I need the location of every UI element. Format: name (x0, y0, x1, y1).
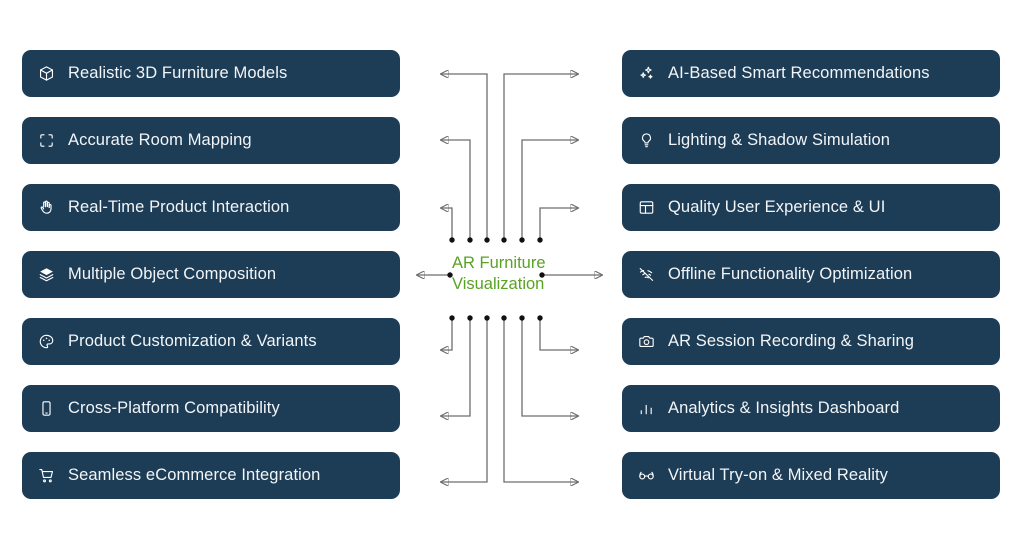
feature-box-analytics-insights-dashboard[interactable]: Analytics & Insights Dashboard (622, 385, 1000, 432)
feature-diagram: Realistic 3D Furniture Models Accurate R… (0, 0, 1024, 550)
feature-label: Real-Time Product Interaction (68, 199, 289, 216)
connector-right-5 (540, 318, 578, 350)
connector-right-3 (540, 208, 578, 240)
feature-label: Virtual Try-on & Mixed Reality (668, 467, 888, 484)
feature-label: Cross-Platform Compatibility (68, 400, 280, 417)
bar-chart-icon (636, 399, 656, 419)
feature-box-seamless-ecommerce-integration[interactable]: Seamless eCommerce Integration (22, 452, 400, 499)
connector-left-2 (441, 140, 470, 240)
connector-right-1 (504, 74, 578, 240)
feature-label: Quality User Experience & UI (668, 199, 885, 216)
palette-icon (36, 332, 56, 352)
hub-dot (484, 237, 489, 242)
right-feature-column: AI-Based Smart Recommendations Lighting … (622, 50, 1000, 499)
hub-dot (449, 237, 454, 242)
feature-box-offline-functionality-optimization[interactable]: Offline Functionality Optimization (622, 251, 1000, 298)
feature-label: Multiple Object Composition (68, 266, 276, 283)
hub-dot (519, 315, 524, 320)
connector-right-2 (522, 140, 578, 240)
hub-dot (537, 315, 542, 320)
sparkles-icon (636, 64, 656, 84)
feature-box-realistic-3d-furniture-models[interactable]: Realistic 3D Furniture Models (22, 50, 400, 97)
feature-box-virtual-try-on-mixed-reality[interactable]: Virtual Try-on & Mixed Reality (622, 452, 1000, 499)
feature-label: AI-Based Smart Recommendations (668, 65, 930, 82)
feature-label: Accurate Room Mapping (68, 132, 252, 149)
hub-dot (449, 315, 454, 320)
hub-dot (501, 237, 506, 242)
feature-box-accurate-room-mapping[interactable]: Accurate Room Mapping (22, 117, 400, 164)
feature-label: Lighting & Shadow Simulation (668, 132, 890, 149)
camera-icon (636, 332, 656, 352)
feature-box-real-time-product-interaction[interactable]: Real-Time Product Interaction (22, 184, 400, 231)
connector-left-5 (441, 318, 452, 350)
hub-dot (467, 237, 472, 242)
connector-left-1 (441, 74, 487, 240)
connector-left-7 (441, 318, 487, 482)
center-hub-label-line1: AR Furniture (452, 253, 592, 274)
cube-icon (36, 64, 56, 84)
connector-left-3 (441, 208, 452, 240)
glasses-icon (636, 466, 656, 486)
scan-frame-icon (36, 131, 56, 151)
feature-label: Analytics & Insights Dashboard (668, 400, 899, 417)
lightbulb-icon (636, 131, 656, 151)
hub-dot (501, 315, 506, 320)
hub-dot (467, 315, 472, 320)
feature-box-ai-based-smart-recommendations[interactable]: AI-Based Smart Recommendations (622, 50, 1000, 97)
feature-box-product-customization-variants[interactable]: Product Customization & Variants (22, 318, 400, 365)
connector-right-7 (504, 318, 578, 482)
feature-box-multiple-object-composition[interactable]: Multiple Object Composition (22, 251, 400, 298)
center-hub-label: AR Furniture Visualization (452, 253, 592, 295)
hand-icon (36, 198, 56, 218)
smartphone-icon (36, 399, 56, 419)
connector-left-6 (441, 318, 470, 416)
feature-box-cross-platform-compatibility[interactable]: Cross-Platform Compatibility (22, 385, 400, 432)
wifi-off-icon (636, 265, 656, 285)
feature-box-ar-session-recording-sharing[interactable]: AR Session Recording & Sharing (622, 318, 1000, 365)
feature-box-lighting-shadow-simulation[interactable]: Lighting & Shadow Simulation (622, 117, 1000, 164)
shopping-cart-icon (36, 466, 56, 486)
feature-label: Realistic 3D Furniture Models (68, 65, 287, 82)
layers-icon (36, 265, 56, 285)
feature-label: Product Customization & Variants (68, 333, 317, 350)
connector-right-6 (522, 318, 578, 416)
feature-box-quality-user-experience-ui[interactable]: Quality User Experience & UI (622, 184, 1000, 231)
left-feature-column: Realistic 3D Furniture Models Accurate R… (22, 50, 400, 499)
center-hub-label-line2: Visualization (452, 274, 592, 295)
layout-panel-icon (636, 198, 656, 218)
hub-dot (537, 237, 542, 242)
feature-label: AR Session Recording & Sharing (668, 333, 914, 350)
feature-label: Offline Functionality Optimization (668, 266, 912, 283)
feature-label: Seamless eCommerce Integration (68, 467, 320, 484)
hub-dot (484, 315, 489, 320)
hub-dot (519, 237, 524, 242)
